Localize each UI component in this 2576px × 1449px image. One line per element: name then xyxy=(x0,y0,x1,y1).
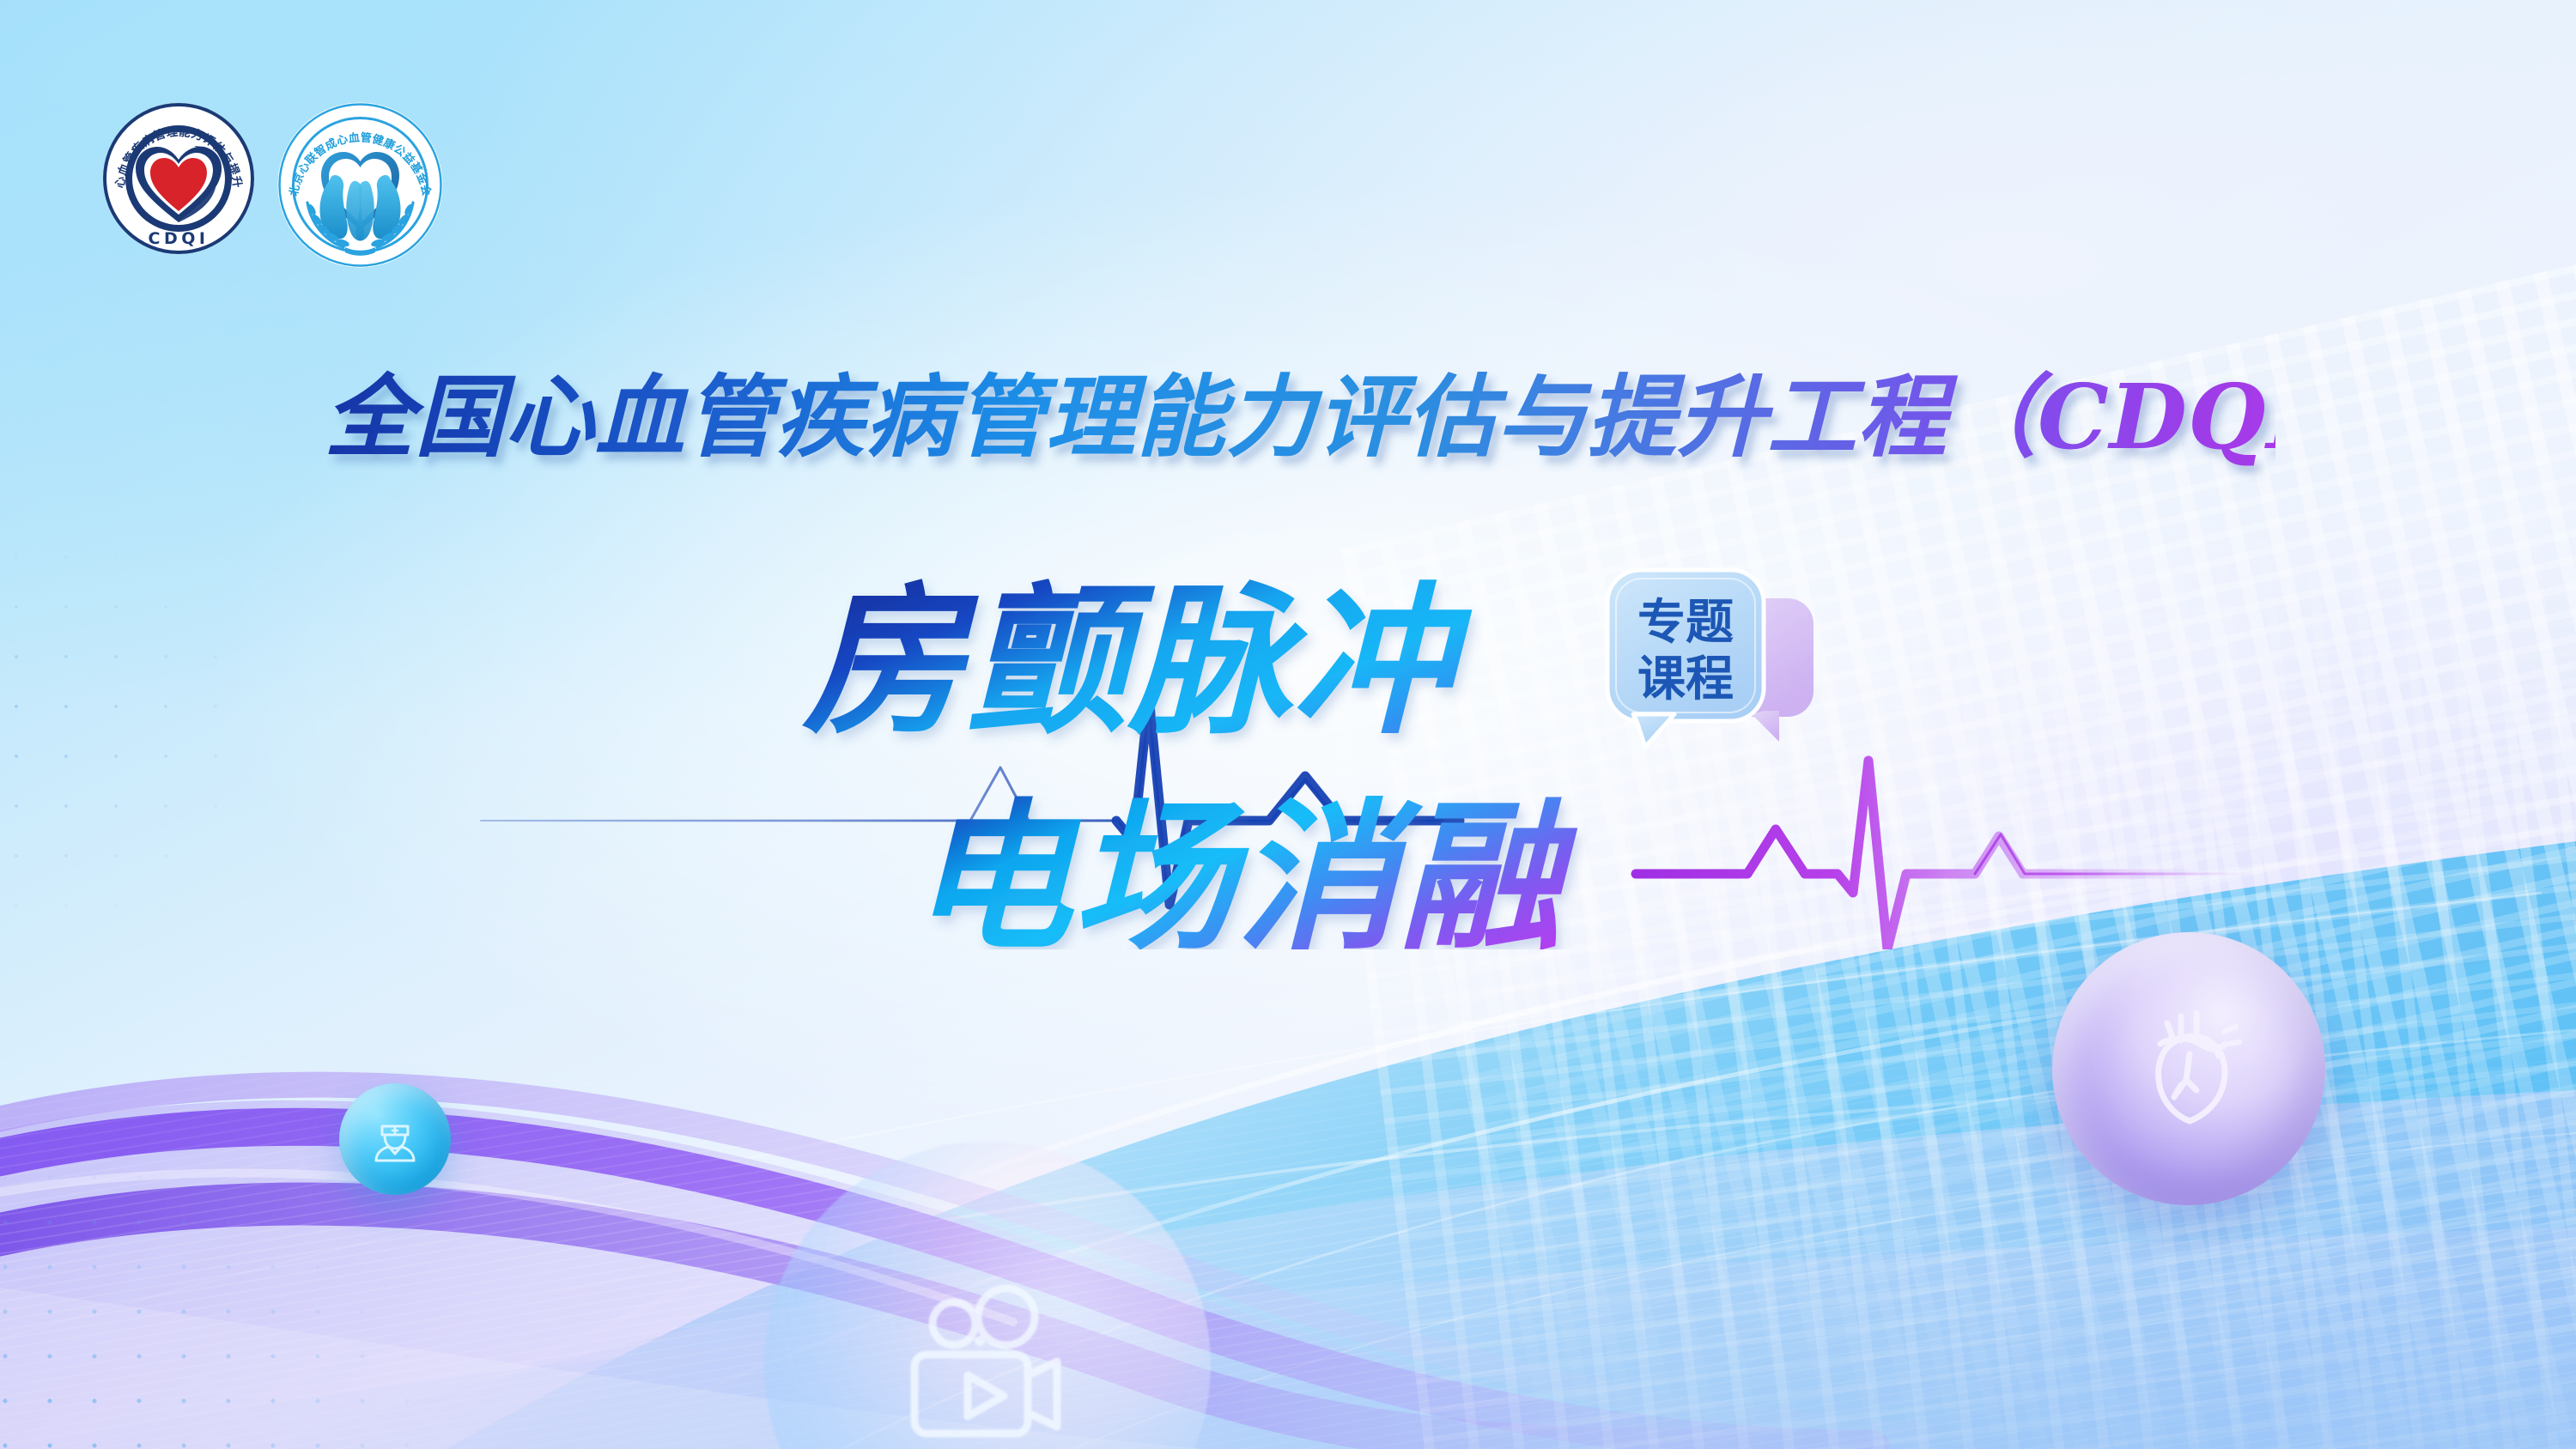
logo-row: 全国心血管疾病管理能力评估与提升工程 CDQI xyxy=(101,101,444,269)
badge-line-1: 专题 xyxy=(1637,595,1734,651)
video-bubble xyxy=(764,1142,1211,1449)
program-title-text: 全国心血管疾病管理能力评估与提升工程（CDQI） xyxy=(325,364,2275,470)
doctor-bubble xyxy=(339,1083,451,1195)
heart-bubble xyxy=(2052,932,2325,1205)
main-heading: 房颤脉冲 电场消融 xyxy=(0,546,2576,949)
banner-stage: 全国心血管疾病管理能力评估与提升工程 CDQI xyxy=(0,0,2576,1449)
dot-pattern-bottom-left xyxy=(0,977,756,1449)
course-badge[interactable]: 专题 课程 xyxy=(1595,560,1836,774)
video-camera-icon xyxy=(764,1142,1211,1449)
heading-line-2: 电场消融 xyxy=(910,785,1578,949)
cdqi-logo: 全国心血管疾病管理能力评估与提升工程 CDQI xyxy=(101,101,256,256)
badge-line-2: 课程 xyxy=(1637,652,1734,707)
doctor-icon xyxy=(339,1083,451,1195)
anatomical-heart-icon xyxy=(2052,932,2325,1205)
ecg-line-right xyxy=(1636,761,2250,949)
beijing-foundation-logo: 北京心联智成心血管健康公益基金会 xyxy=(276,101,444,269)
heading-line-1: 房颤脉冲 xyxy=(802,568,1473,756)
program-title: 全国心血管疾病管理能力评估与提升工程（CDQI） xyxy=(318,343,2275,494)
cdqi-abbr: CDQI xyxy=(149,229,210,248)
